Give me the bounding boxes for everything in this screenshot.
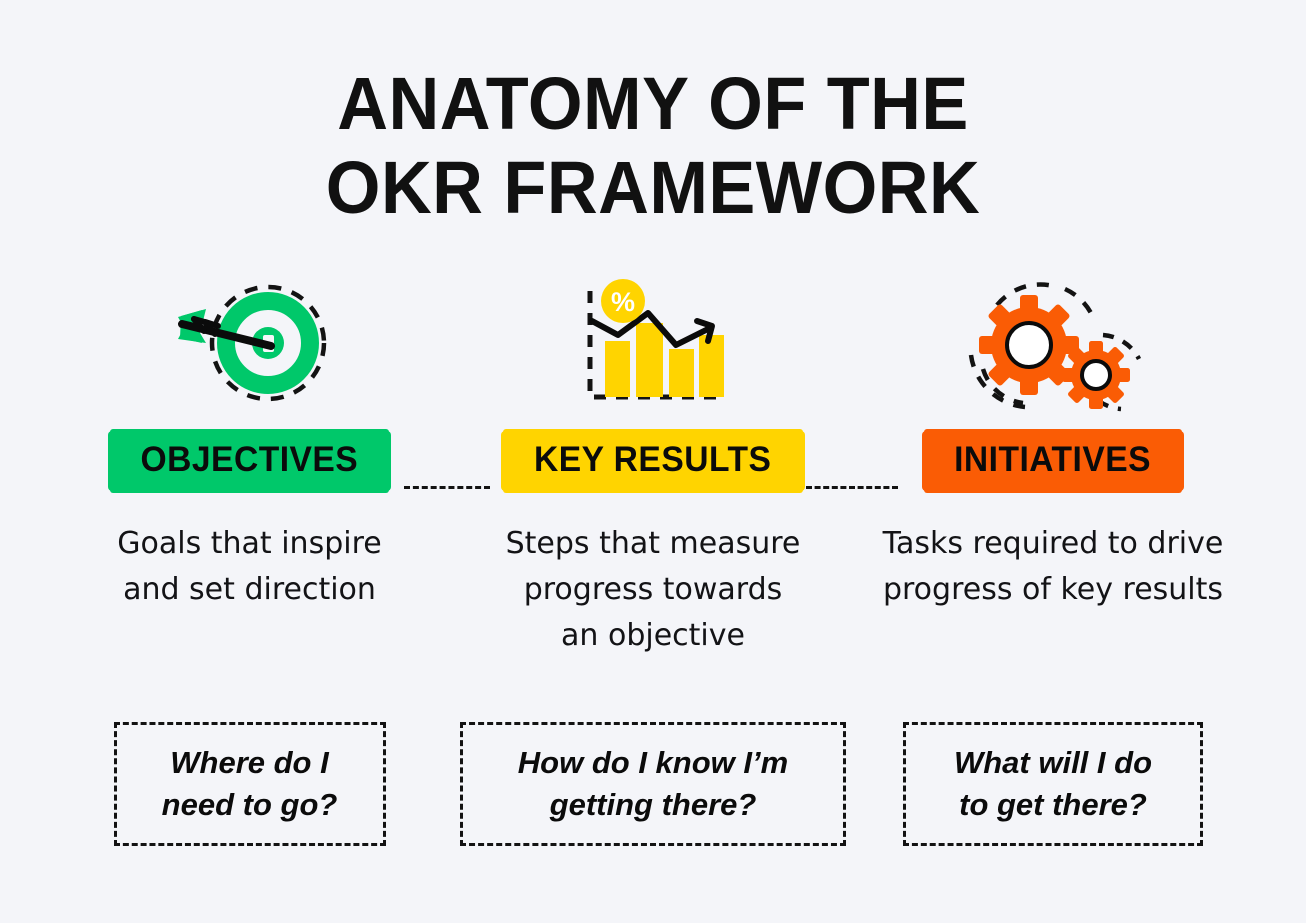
banner-objectives-label: OBJECTIVES [141, 442, 359, 478]
bar-chart-percent-icon: % [453, 270, 853, 425]
title-line-2: OKR FRAMEWORK [33, 146, 1274, 230]
question-box-objectives: Where do I need to go? [114, 722, 386, 846]
banner-row-initiatives: INITIATIVES [853, 425, 1253, 497]
column-key-results: % KEY RESULTS Steps that measure progres… [453, 270, 853, 659]
column-objectives: OBJECTIVES Goals that inspire and set di… [46, 270, 453, 659]
description-line: an objective [467, 613, 839, 659]
description-line: Steps that measure [467, 521, 839, 567]
question-line: need to go? [162, 784, 338, 826]
description-line: progress of key results [867, 567, 1239, 613]
question-box-key-results: How do I know I’m getting there? [460, 722, 846, 846]
description-line: and set direction [60, 567, 439, 613]
question-boxes: Where do I need to go? How do I know I’m… [0, 722, 1306, 846]
percent-badge-label: % [611, 287, 635, 317]
banner-initiatives-label: INITIATIVES [955, 442, 1152, 478]
question-line: to get there? [954, 784, 1152, 826]
question-box-initiatives-text: What will I do to get there? [954, 742, 1152, 826]
description-line: Tasks required to drive [867, 521, 1239, 567]
description-line: progress towards [467, 567, 839, 613]
description-initiatives: Tasks required to drive progress of key … [853, 521, 1253, 613]
description-objectives: Goals that inspire and set direction [46, 521, 453, 613]
question-line: Where do I [162, 742, 338, 784]
title-line-1: ANATOMY OF THE [33, 62, 1274, 146]
target-arrow-icon [46, 270, 453, 425]
question-box-objectives-text: Where do I need to go? [162, 742, 338, 826]
banner-row-key-results: KEY RESULTS [453, 425, 853, 497]
banner-key-results[interactable]: KEY RESULTS [503, 429, 802, 493]
banner-objectives[interactable]: OBJECTIVES [110, 429, 389, 493]
question-line: What will I do [954, 742, 1152, 784]
okr-columns: OBJECTIVES Goals that inspire and set di… [0, 270, 1306, 659]
question-box-key-results-text: How do I know I’m getting there? [518, 742, 788, 826]
description-line: Goals that inspire [60, 521, 439, 567]
question-line: How do I know I’m [518, 742, 788, 784]
page-title: ANATOMY OF THE OKR FRAMEWORK [0, 62, 1306, 230]
banner-initiatives[interactable]: INITIATIVES [924, 429, 1181, 493]
banner-key-results-label: KEY RESULTS [534, 442, 771, 478]
question-line: getting there? [518, 784, 788, 826]
column-initiatives: INITIATIVES Tasks required to drive prog… [853, 270, 1253, 659]
banner-row-objectives: OBJECTIVES [46, 425, 453, 497]
question-box-initiatives: What will I do to get there? [903, 722, 1203, 846]
gears-icon [853, 270, 1253, 425]
description-key-results: Steps that measure progress towards an o… [453, 521, 853, 659]
